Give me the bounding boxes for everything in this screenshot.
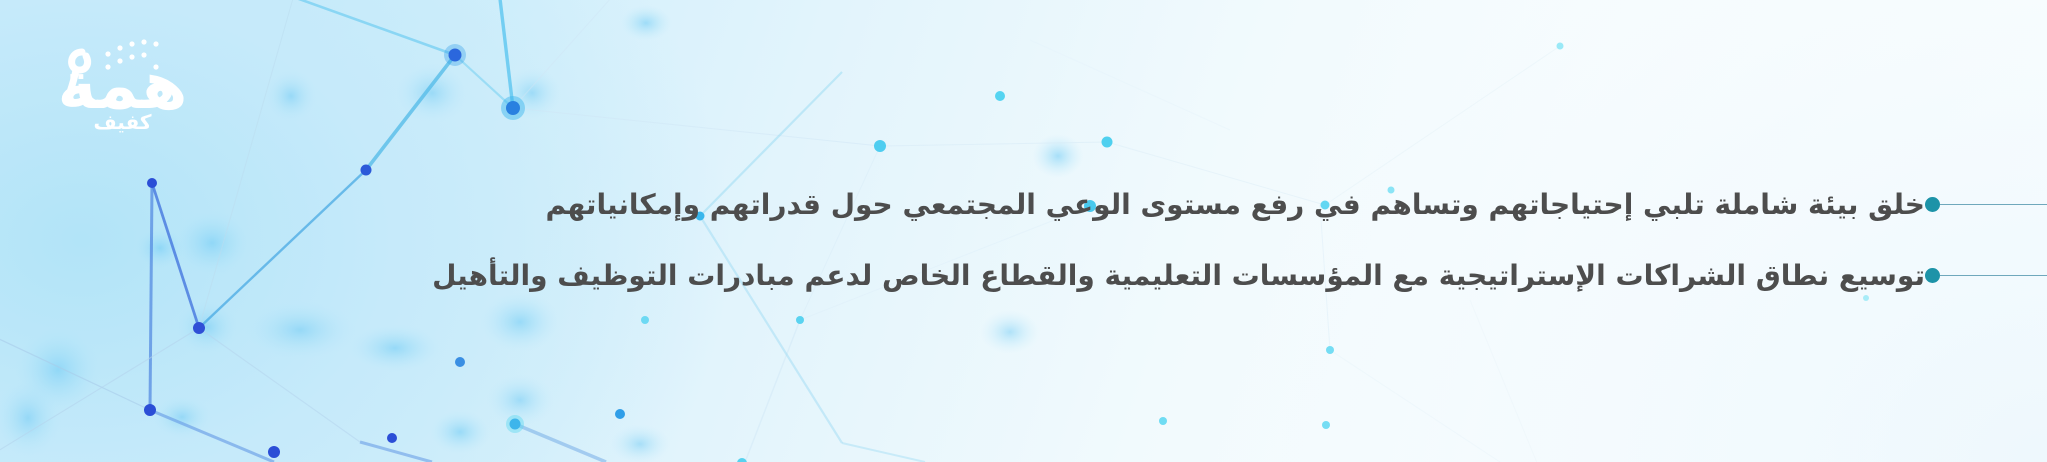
bullet-text-1: خلق بيئة شاملة تلبي إحتياجاتهم وتساهم في… [525, 188, 1925, 221]
bullet-dot-icon [1925, 197, 1940, 212]
bullet-marker-1 [1925, 197, 2047, 212]
list-item[interactable]: خلق بيئة شاملة تلبي إحتياجاتهم وتساهم في… [0, 188, 2047, 221]
bullet-marker-2 [1925, 268, 2047, 283]
bullet-text-2: توسيع نطاق الشراكات الإستراتيجية مع المؤ… [412, 259, 1925, 292]
bullet-line [1940, 275, 2047, 277]
bullet-dot-icon [1925, 268, 1940, 283]
banner-root: همة كفيف خلق بيئة شاملة تلبي إحتياجاتهم … [0, 0, 2047, 462]
bullet-line [1940, 204, 2047, 206]
list-item[interactable]: توسيع نطاق الشراكات الإستراتيجية مع المؤ… [0, 259, 2047, 292]
bullet-list: خلق بيئة شاملة تلبي إحتياجاتهم وتساهم في… [0, 0, 2047, 462]
